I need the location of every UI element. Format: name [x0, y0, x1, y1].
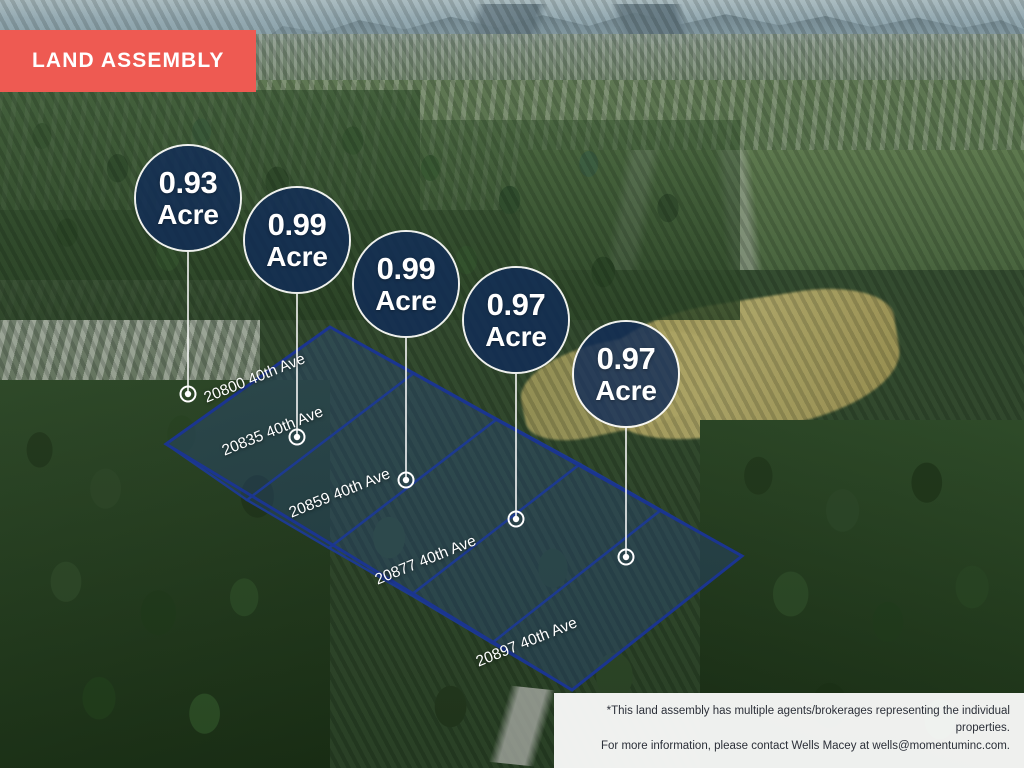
acre-badge-20859[interactable]: 0.99 Acre — [354, 232, 458, 336]
acre-unit: Acre — [266, 243, 327, 271]
acre-value: 0.99 — [268, 209, 327, 240]
disclaimer-box: *This land assembly has multiple agents/… — [554, 693, 1024, 768]
acre-badge-20835[interactable]: 0.99 Acre — [245, 188, 349, 292]
aerial-land-assembly-graphic: LAND ASSEMBLY 0.93 Acre 0.99 Acre 0.99 A… — [0, 0, 1024, 768]
acre-value: 0.99 — [377, 253, 436, 284]
acre-value: 0.97 — [597, 343, 656, 374]
acre-badge-20800[interactable]: 0.93 Acre — [136, 146, 240, 250]
acre-unit: Acre — [485, 323, 546, 351]
acre-badge-20897[interactable]: 0.97 Acre — [574, 322, 678, 426]
land-assembly-banner: LAND ASSEMBLY — [0, 30, 256, 92]
banner-label: LAND ASSEMBLY — [0, 49, 224, 73]
disclaimer-line-1: *This land assembly has multiple agents/… — [568, 703, 1010, 739]
acre-unit: Acre — [595, 377, 656, 405]
acre-value: 0.93 — [159, 167, 218, 198]
acre-value: 0.97 — [487, 289, 546, 320]
acre-badge-20877[interactable]: 0.97 Acre — [464, 268, 568, 372]
disclaimer-line-2: For more information, please contact Wel… — [568, 738, 1010, 756]
acre-unit: Acre — [157, 201, 218, 229]
acre-unit: Acre — [375, 287, 436, 315]
